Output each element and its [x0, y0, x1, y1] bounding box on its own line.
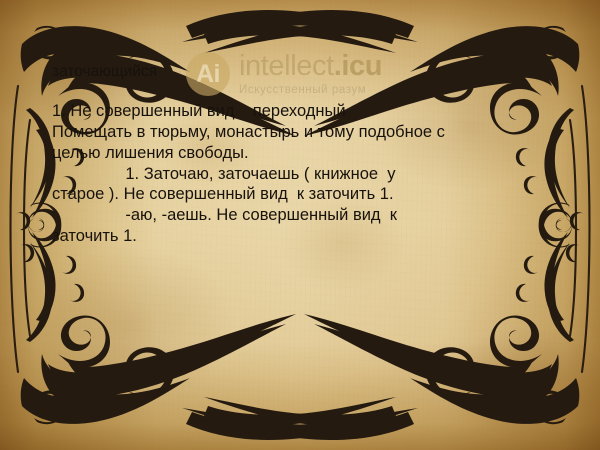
border-line-left — [11, 86, 19, 372]
edge-accent-right — [566, 212, 584, 262]
dictionary-card: Ai intellect.icu Искусственный разум зат… — [0, 0, 600, 450]
headword-spacer — [52, 81, 544, 101]
definition-line-5: старое ). Не совершенный вид к заточить … — [52, 184, 544, 205]
edge-flourish-top — [182, 10, 418, 53]
definition-line-6: -аю, -аешь. Не совершенный вид к — [52, 205, 544, 226]
edge-flourish-bottom — [182, 397, 418, 440]
article-body: заточающийся 1. Не совершенный вид перех… — [52, 62, 544, 247]
border-line-right-inner — [570, 120, 576, 336]
border-line-right — [582, 86, 590, 372]
headword: заточающийся — [52, 62, 544, 81]
edge-accent-left — [16, 212, 34, 262]
definition-line-2: Помещать в тюрьму, монастырь и тому подо… — [52, 122, 544, 143]
definition-line-4: 1. Заточаю, заточаешь ( книжное у — [52, 164, 544, 185]
border-line-left-inner — [24, 120, 30, 336]
definition-line-7: заточить 1. — [52, 226, 544, 247]
definition-line-3: целью лишения свободы. — [52, 143, 544, 164]
definition-line-1: 1. Не совершенный вид переходный — [52, 101, 544, 122]
